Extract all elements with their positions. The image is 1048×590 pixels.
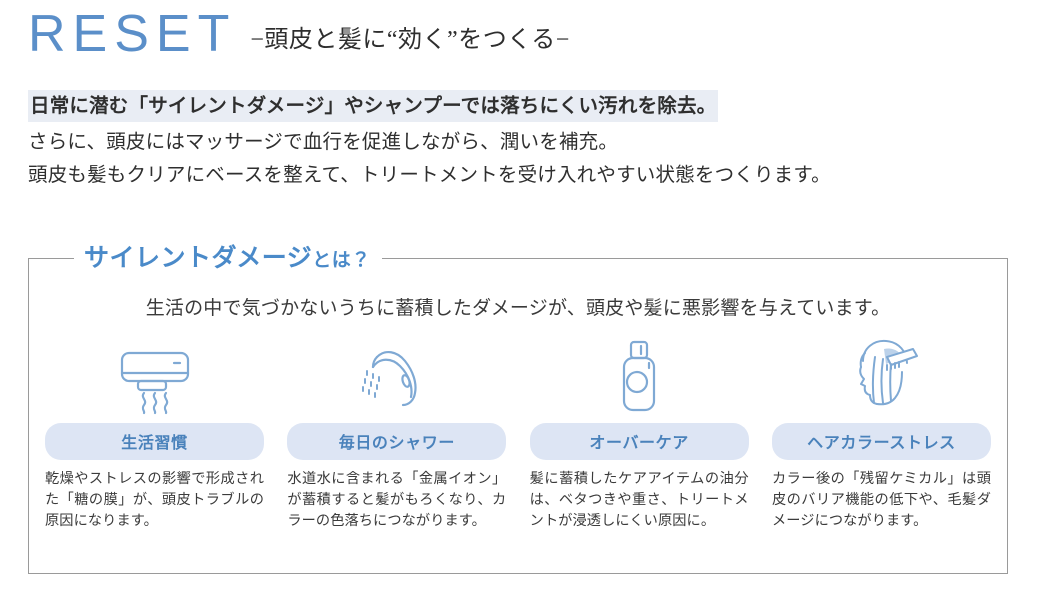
damage-card-label: ヘアカラーストレス <box>772 423 991 460</box>
lead-line-1-highlighted: 日常に潜む「サイレントダメージ」やシャンプーでは落ちにくい汚れを除去。 <box>28 90 718 122</box>
section-heading-main: サイレントダメージ <box>84 244 312 272</box>
silent-damage-panel: 生活の中で気づかないうちに蓄積したダメージが、頭皮や髪に悪影響を与えています。 <box>28 258 1008 574</box>
section-intro-text: 生活の中で気づかないうちに蓄積したダメージが、頭皮や髪に悪影響を与えています。 <box>29 295 1007 323</box>
pump-bottle-icon <box>609 337 669 415</box>
damage-card-text: 髪に蓄積したケアアイテムの油分は、ベタつきや重さ、トリートメントが浸透しにくい原… <box>530 469 749 532</box>
damage-card-text: カラー後の「残留ケミカル」は頭皮のバリア機能の低下や、毛髪ダメージにつながります… <box>772 469 991 532</box>
damage-card-lifestyle[interactable]: 生活習慣 乾燥やストレスの影響で形成された「糖の膜」が、頭皮トラブルの原因になり… <box>45 337 264 532</box>
page-title: RESET <box>28 8 236 60</box>
lead-line-2: さらに、頭皮にはマッサージで血行を促進しながら、潤いを補充。 <box>28 127 1008 157</box>
damage-card-label: 毎日のシャワー <box>287 423 506 460</box>
hair-coloring-icon <box>837 337 925 415</box>
damage-card-text: 水道水に含まれる「金属イオン」が蓄積すると髪がもろくなり、カラーの色落ちにつなが… <box>287 469 506 532</box>
air-conditioner-icon <box>113 337 197 415</box>
shower-head-icon <box>355 337 439 415</box>
damage-cards-row: 生活習慣 乾燥やストレスの影響で形成された「糖の膜」が、頭皮トラブルの原因になり… <box>45 337 991 532</box>
damage-card-hair-color-stress[interactable]: ヘアカラーストレス カラー後の「残留ケミカル」は頭皮のバリア機能の低下や、毛髪ダ… <box>772 337 991 532</box>
section-heading-suffix: とは？ <box>312 250 371 271</box>
lead-paragraph: 日常に潜む「サイレントダメージ」やシャンプーでは落ちにくい汚れを除去。 さらに、… <box>28 90 1008 193</box>
section-heading: サイレントダメージとは？ <box>74 243 381 277</box>
reset-promo-page: RESET −頭皮と髪に“効く”をつくる− 日常に潜む「サイレントダメージ」やシ… <box>0 0 1048 590</box>
page-header: RESET −頭皮と髪に“効く”をつくる− <box>28 8 570 60</box>
damage-card-label: オーバーケア <box>530 423 749 460</box>
lead-line-3: 頭皮も髪もクリアにベースを整えて、トリートメントを受け入れやすい状態をつくります… <box>28 160 1008 190</box>
damage-card-label: 生活習慣 <box>45 423 264 460</box>
damage-card-text: 乾燥やストレスの影響で形成された「糖の膜」が、頭皮トラブルの原因になります。 <box>45 469 264 532</box>
damage-card-overcare[interactable]: オーバーケア 髪に蓄積したケアアイテムの油分は、ベタつきや重さ、トリートメントが… <box>530 337 749 532</box>
damage-card-daily-shower[interactable]: 毎日のシャワー 水道水に含まれる「金属イオン」が蓄積すると髪がもろくなり、カラー… <box>287 337 506 532</box>
page-subtitle: −頭皮と髪に“効く”をつくる− <box>250 19 569 54</box>
